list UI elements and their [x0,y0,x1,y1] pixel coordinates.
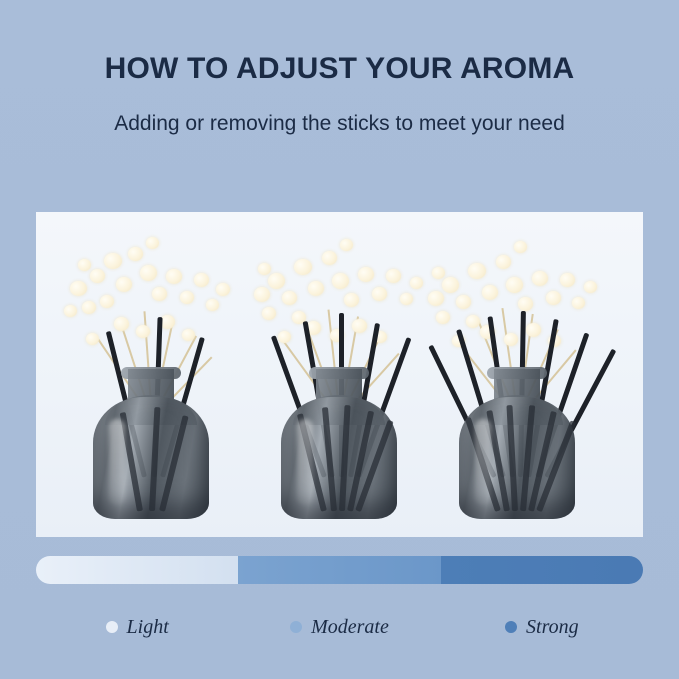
legend-label: Strong [526,616,579,639]
meter-segment-moderate [238,556,440,584]
legend-dot-light-icon [106,621,118,633]
meter-segment-light [36,556,238,584]
diffuser-group-light [56,212,246,537]
page-title: HOW TO ADJUST YOUR AROMA [0,52,679,86]
glass-bottle [281,369,397,519]
legend-item-light: Light [36,612,238,642]
aroma-instruction-graphic: HOW TO ADJUST YOUR AROMA Adding or remov… [0,0,679,679]
diffuser-group-strong [422,212,612,537]
product-photo [36,212,643,537]
glass-bottle [93,369,209,519]
legend-label: Light [127,616,169,639]
meter-segment-strong [441,556,643,584]
legend-item-strong: Strong [441,612,643,642]
legend-item-moderate: Moderate [238,612,440,642]
diffuser-group-moderate [244,212,434,537]
intensity-meter [36,556,643,584]
glass-bottle [459,369,575,519]
legend-label: Moderate [311,616,389,639]
page-subtitle: Adding or removing the sticks to meet yo… [0,112,679,136]
legend-dot-strong-icon [505,621,517,633]
legend-dot-moderate-icon [290,621,302,633]
intensity-legend: Light Moderate Strong [36,612,643,642]
